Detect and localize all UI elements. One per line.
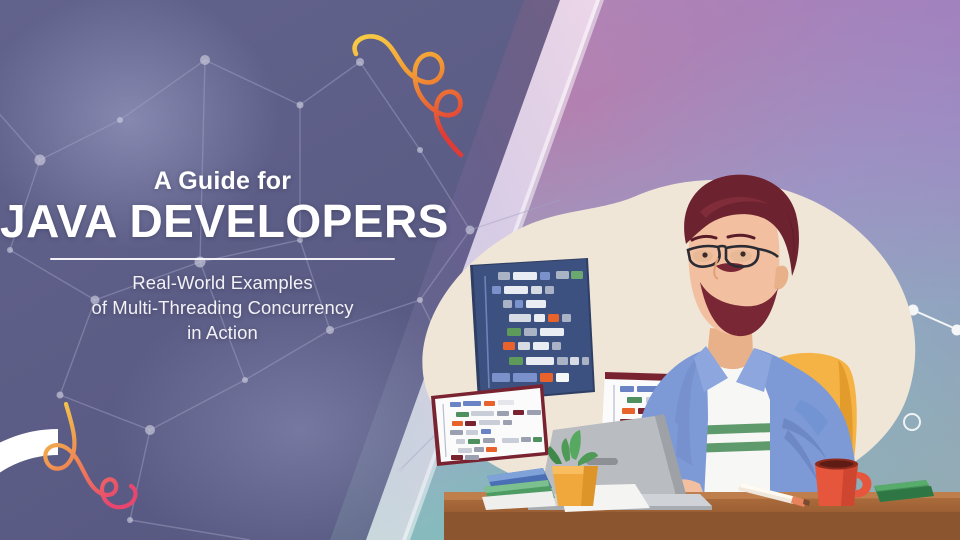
headline-block: A Guide for JAVA DEVELOPERS Real-World E… bbox=[0, 168, 445, 346]
monitor-code-editor-light-small bbox=[431, 384, 549, 466]
subtitle-line-3: in Action bbox=[0, 321, 445, 346]
title-divider bbox=[50, 258, 395, 260]
monitor-code-editor-dark bbox=[470, 258, 595, 402]
eyebrow-text: A Guide for bbox=[0, 168, 445, 194]
banner-root: A Guide for JAVA DEVELOPERS Real-World E… bbox=[0, 0, 960, 540]
page-title: JAVA DEVELOPERS bbox=[0, 198, 445, 244]
books-stack bbox=[482, 468, 556, 510]
subtitle-text: Real-World Examples of Multi-Threading C… bbox=[0, 271, 445, 346]
subtitle-line-2: of Multi-Threading Concurrency bbox=[0, 296, 445, 321]
subtitle-line-1: Real-World Examples bbox=[0, 271, 445, 296]
